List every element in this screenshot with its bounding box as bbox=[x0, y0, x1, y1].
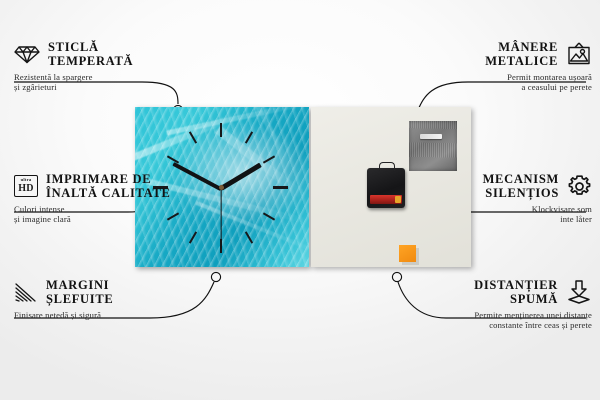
clock-center-cap bbox=[219, 185, 224, 190]
callout-sticla-temperata: Sticlă temperată Rezistentă la spargere … bbox=[14, 40, 174, 93]
picture-frame-hanger-icon bbox=[566, 42, 592, 66]
battery-positive-terminal bbox=[395, 196, 401, 203]
beveled-edge-icon bbox=[14, 282, 38, 303]
callout-desc: Klockvisare som inte låter bbox=[442, 204, 592, 225]
infographic-canvas: Sticlă temperată Rezistentă la spargere … bbox=[0, 0, 600, 400]
ultra-hd-icon-bottom: HD bbox=[18, 184, 33, 194]
clock-tick bbox=[220, 123, 222, 137]
diamond-icon bbox=[14, 44, 40, 64]
callout-title: Margini șlefuite bbox=[46, 278, 113, 306]
callout-manere-metalice: Mânere metalice Permit montarea ușoară a… bbox=[407, 40, 592, 93]
battery bbox=[370, 195, 402, 204]
callout-desc: Permit montarea ușoară a ceasului pe per… bbox=[407, 72, 592, 93]
ultra-hd-icon: ultra HD bbox=[14, 175, 38, 197]
clock-mechanism bbox=[367, 168, 405, 208]
clock-tick bbox=[273, 186, 288, 189]
callout-desc: Rezistentă la spargere și zgârieturi bbox=[14, 72, 174, 93]
callout-title: Mânere metalice bbox=[485, 40, 558, 68]
callout-desc: Culori intense și imagine clară bbox=[14, 204, 189, 225]
clock-second-hand bbox=[220, 188, 221, 248]
callout-desc: Finisare netedă și sigură bbox=[14, 310, 174, 320]
callout-desc: Permite menținerea unei distanțe constan… bbox=[402, 310, 592, 331]
mechanism-hanging-tab bbox=[379, 162, 395, 171]
callout-title: Distanțier spumă bbox=[474, 278, 558, 306]
clock-tick bbox=[189, 231, 197, 243]
clock-tick bbox=[245, 231, 253, 243]
metal-hanger-plate bbox=[409, 121, 457, 171]
feather-streak bbox=[215, 126, 309, 206]
clock-tick bbox=[245, 131, 253, 143]
clock-tick bbox=[263, 155, 275, 163]
callout-title: Mecanism silențios bbox=[483, 172, 559, 200]
arrow-down-pad-icon bbox=[566, 280, 592, 304]
callout-title: Imprimare de înaltă calitate bbox=[46, 172, 171, 200]
hanger-slot bbox=[420, 134, 442, 139]
gear-icon bbox=[567, 174, 592, 199]
callout-distantier-spuma: Distanțier spumă Permite menținerea unei… bbox=[402, 278, 592, 331]
callout-margini-slefuite: Margini șlefuite Finisare netedă și sigu… bbox=[14, 278, 174, 320]
callout-imprimare-inalta-calitate: ultra HD Imprimare de înaltă calitate Cu… bbox=[14, 172, 189, 225]
callout-mecanism-silentios: Mecanism silențios Klockvisare som inte … bbox=[442, 172, 592, 225]
callout-title: Sticlă temperată bbox=[48, 40, 133, 68]
foam-spacer bbox=[399, 245, 416, 262]
clock-hour-hand bbox=[220, 163, 262, 191]
